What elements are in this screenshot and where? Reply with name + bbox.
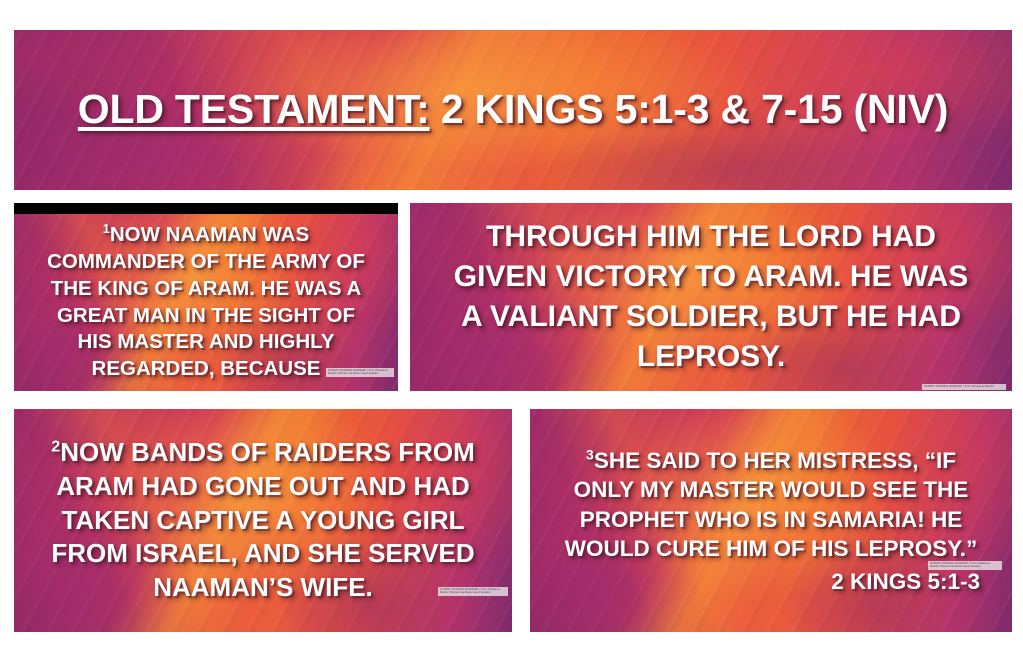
header-banner: OLD TESTAMENT: 2 KINGS 5:1-3 & 7-15 (NIV… [14,30,1012,190]
scripture-slide-1: 1NOW NAAMAN WAS COMMANDER OF THE ARMY OF… [14,203,398,391]
verse-number-1: 1 [103,221,110,236]
verse-text-4: 3SHE SAID TO HER MISTRESS, “IF ONLY MY M… [559,446,983,563]
verse-body-1: NOW NAAMAN WAS COMMANDER OF THE ARMY OF … [47,223,365,380]
verse-text-1: 1NOW NAAMAN WAS COMMANDER OF THE ARMY OF… [45,222,368,383]
broadcast-watermark: SUNDAY MORNING WORSHIP | "From Miracle t… [438,587,508,596]
broadcast-watermark: SUNDAY MORNING WORSHIP | "From Miracle t… [928,561,1002,570]
broadcast-watermark: SUNDAY MORNING WORSHIP | "From Miracle t… [922,384,1006,390]
verse-text-2: THROUGH HIM THE LORD HAD GIVEN VICTORY T… [452,217,970,377]
letterbox-bar [14,203,398,214]
scripture-slide-2: THROUGH HIM THE LORD HAD GIVEN VICTORY T… [410,203,1012,391]
verse-text-3: 2NOW BANDS OF RAIDERS FROM ARAM HAD GONE… [39,436,487,605]
scripture-slide-3: 2NOW BANDS OF RAIDERS FROM ARAM HAD GONE… [14,409,512,632]
verse-number-3: 2 [51,437,60,455]
verse-number-4: 3 [586,447,594,463]
scripture-citation: 2 KINGS 5:1-3 [556,569,986,595]
page-title-rest: 2 KINGS 5:1-3 & 7-15 (NIV) [430,86,949,132]
page-title: OLD TESTAMENT: 2 KINGS 5:1-3 & 7-15 (NIV… [49,83,977,136]
scripture-slide-4: 3SHE SAID TO HER MISTRESS, “IF ONLY MY M… [530,409,1012,632]
verse-body-2: THROUGH HIM THE LORD HAD GIVEN VICTORY T… [454,220,969,373]
verse-body-4: SHE SAID TO HER MISTRESS, “IF ONLY MY MA… [565,448,978,561]
verse-body-3: NOW BANDS OF RAIDERS FROM ARAM HAD GONE … [51,437,474,602]
broadcast-watermark: SUNDAY MORNING WORSHIP | "From Miracle t… [326,368,394,377]
page-title-underlined: OLD TESTAMENT: [78,86,430,132]
